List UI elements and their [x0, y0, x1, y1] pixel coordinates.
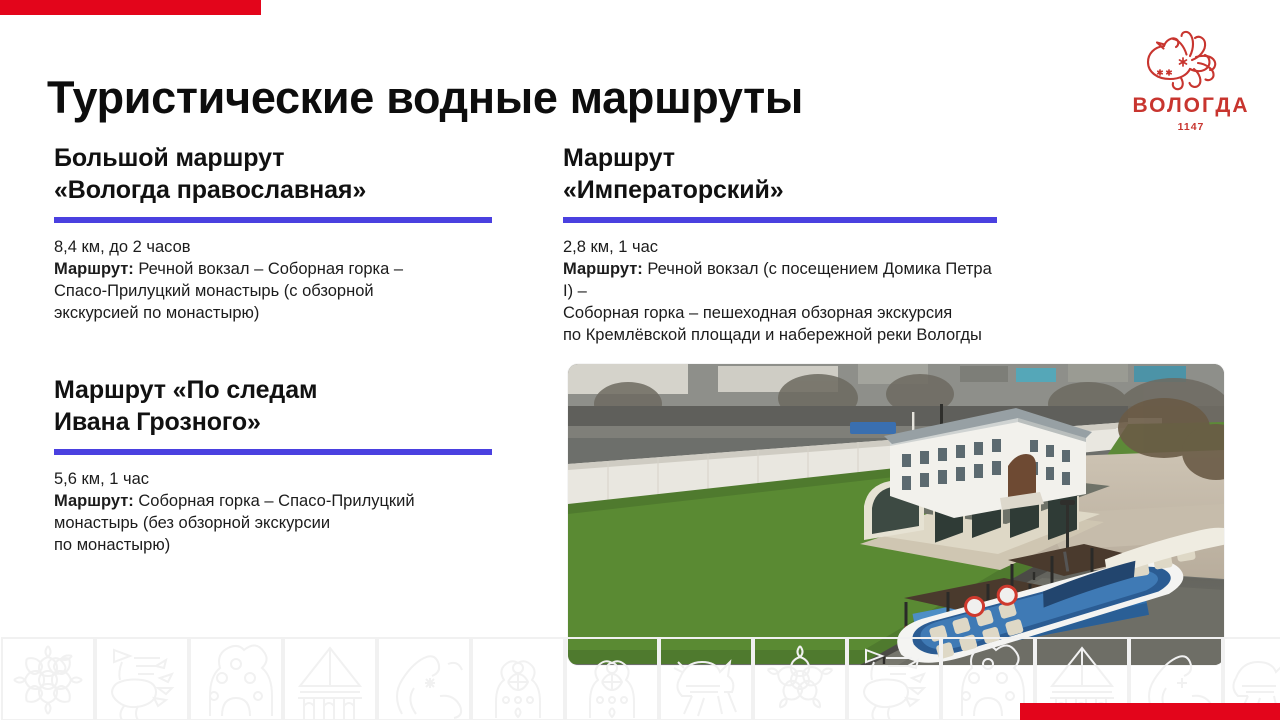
route-distance: 5,6 км, 1 час [54, 469, 492, 491]
horse-tile [674, 662, 736, 716]
route-body: 2,8 км, 1 час Маршрут: Речной вокзал (с … [563, 237, 997, 347]
bottom-red-accent-bar [1020, 703, 1280, 720]
route-body: 8,4 км, до 2 часов Маршрут: Речной вокза… [54, 237, 492, 325]
route-block-big: Большой маршрут «Вологда православная» 8… [54, 142, 492, 325]
bird-tile [112, 650, 172, 720]
route-body: 5,6 км, 1 час Маршрут: Соборная горка – … [54, 469, 492, 557]
route-description: Маршрут: Соборная горка – Спасо-Прилуцки… [54, 491, 492, 557]
logo-year: 1147 [1126, 121, 1256, 133]
dome-tile [496, 661, 540, 718]
route-label: Маршрут: [54, 492, 134, 510]
vologda-logo: ВОЛОГДА 1147 [1126, 26, 1256, 138]
route-description: Маршрут: Речной вокзал (с посещением Дом… [563, 259, 997, 347]
route-distance: 2,8 км, 1 час [563, 237, 997, 259]
logo-wordmark: ВОЛОГДА [1126, 95, 1256, 116]
kokoshnik-tile [962, 645, 1024, 716]
route-divider [54, 449, 492, 455]
route-heading: Маршрут «Императорский» [563, 142, 997, 206]
route-block-ivan: Маршрут «По следам Ивана Грозного» 5,6 к… [54, 374, 492, 557]
bird-tile [864, 650, 924, 720]
route-heading: Большой маршрут «Вологда православная» [54, 142, 492, 206]
snowflake-tile [14, 646, 82, 714]
route-block-imperial: Маршрут «Императорский» 2,8 км, 1 час Ма… [563, 142, 997, 347]
route-label: Маршрут: [54, 260, 134, 278]
route-divider [563, 217, 997, 223]
route-description: Маршрут: Речной вокзал – Соборная горка … [54, 259, 492, 325]
route-label: Маршрут: [563, 260, 643, 278]
route-heading: Маршрут «По следам Ивана Грозного» [54, 374, 492, 438]
route-distance: 8,4 км, до 2 часов [54, 237, 492, 259]
snowflake-tile [765, 646, 835, 713]
firebird-icon [1126, 26, 1256, 94]
route-divider [54, 217, 492, 223]
page-title: Туристические водные маршруты [47, 74, 803, 121]
swan-tile [397, 656, 462, 718]
dome-tile [590, 661, 634, 718]
kokoshnik-tile [210, 645, 272, 716]
slide-root: Туристические водные маршруты [0, 0, 1280, 720]
top-red-accent-bar [0, 0, 261, 15]
pavilion-tile [298, 648, 362, 720]
